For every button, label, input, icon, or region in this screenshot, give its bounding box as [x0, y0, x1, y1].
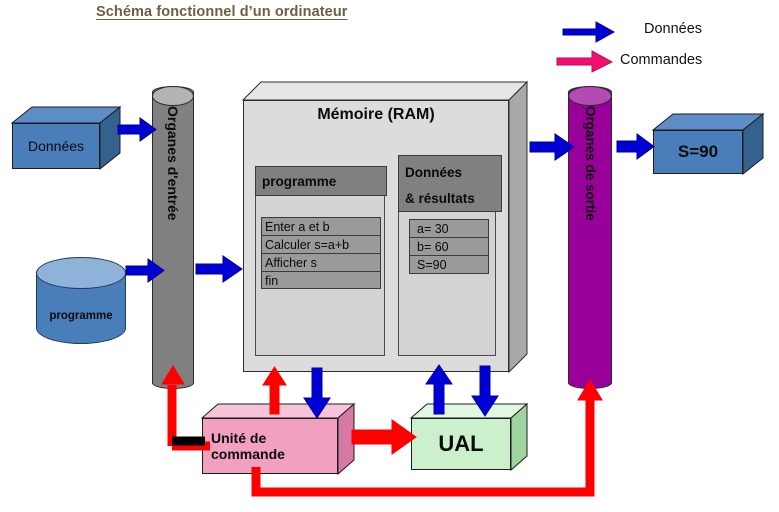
page-title: Schéma fonctionnel d’un ordinateur: [96, 4, 348, 20]
control-unit-label-line1: Unité de: [211, 430, 266, 446]
program-line: fin: [262, 272, 380, 290]
alu-label: UAL: [411, 418, 511, 470]
output-result-box[interactable]: S=90: [653, 114, 763, 174]
memory-program-panel-header: programme: [255, 166, 387, 196]
program-store-label: programme: [36, 310, 126, 322]
input-unit-cylinder[interactable]: Organes d'entrée: [152, 86, 194, 389]
legend-command-arrow-icon: [557, 51, 612, 72]
output-unit-cylinder[interactable]: Organes de sortie: [568, 86, 612, 389]
alu-box[interactable]: UAL: [411, 404, 527, 470]
input-unit-label: Organes d'entrée: [165, 106, 181, 221]
memory-data-panel-header-line1: Données: [405, 160, 501, 186]
program-store-cylinder[interactable]: programme: [36, 258, 126, 344]
data-value-row: S=90: [410, 256, 488, 273]
memory-data-panel-header-line2: & résultats: [405, 186, 501, 212]
legend-label-commandes: Commandes: [620, 52, 702, 68]
output-unit-label: Organes de sortie: [583, 106, 598, 221]
data-value-row: a= 30: [410, 220, 488, 238]
arrow-data-to-input-unit: [118, 118, 156, 141]
memory-block[interactable]: Mémoire (RAM) programme Enter a et b Cal…: [243, 82, 527, 372]
arrow-output-unit-to-result: [617, 134, 654, 159]
arrow-control-unit-to-alu: [352, 420, 416, 454]
legend-data-arrow-icon: [563, 22, 614, 42]
program-line: Enter a et b: [262, 218, 380, 236]
memory-data-panel-header: Données & résultats: [398, 155, 502, 212]
input-data-box-label: Données: [12, 123, 100, 169]
legend-label-donnees: Données: [644, 21, 702, 37]
arrow-input-unit-to-memory: [196, 256, 242, 282]
memory-data-panel: Données & résultats a= 30 b= 60 S=90: [398, 166, 496, 356]
output-result-label: S=90: [653, 130, 743, 174]
control-unit-box[interactable]: Unité de commande: [202, 404, 354, 474]
memory-program-panel: programme Enter a et b Calculer s=a+b Af…: [255, 166, 385, 356]
control-unit-label: Unité de commande: [202, 418, 338, 474]
diagram-canvas: Schéma fonctionnel d’un ordinateur Donné…: [0, 0, 779, 512]
memory-data-values: a= 30 b= 60 S=90: [409, 219, 489, 274]
program-line: Calculer s=a+b: [262, 236, 380, 254]
memory-program-lines: Enter a et b Calculer s=a+b Afficher s f…: [261, 217, 381, 289]
program-line: Afficher s: [262, 254, 380, 272]
input-data-box[interactable]: Données: [12, 107, 120, 169]
data-value-row: b= 60: [410, 238, 488, 256]
memory-title: Mémoire (RAM): [243, 106, 509, 124]
control-unit-label-line2: commande: [211, 446, 285, 462]
